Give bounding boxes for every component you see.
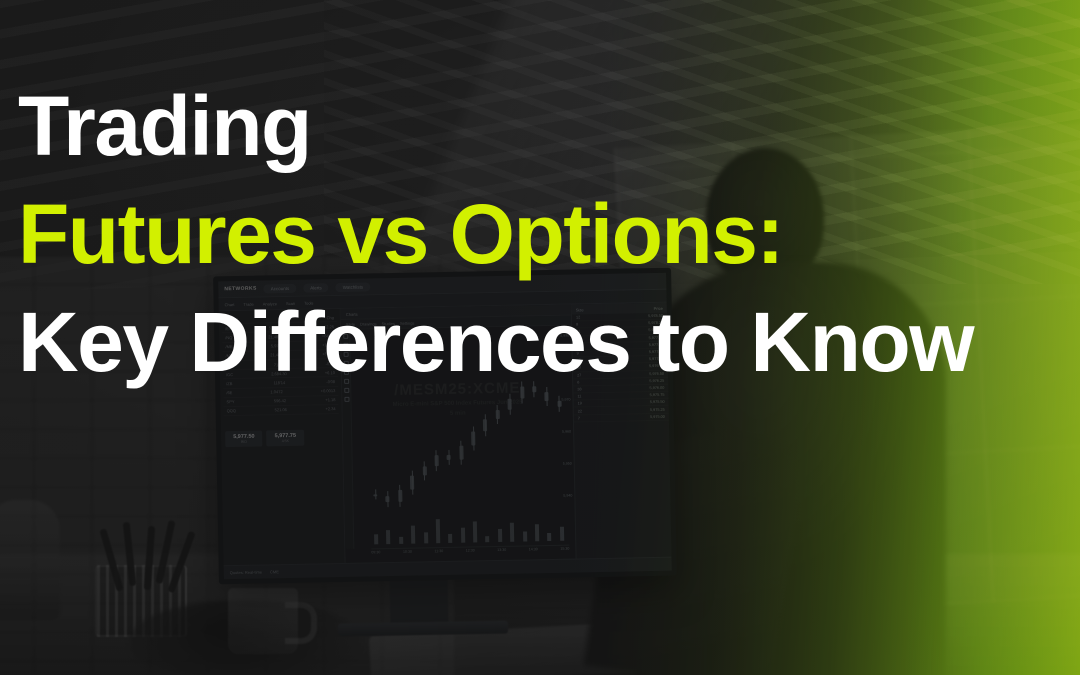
candle-wick	[509, 394, 510, 416]
candle	[557, 400, 561, 406]
x-tick: 15:30	[560, 547, 569, 553]
volume-bar	[374, 535, 378, 545]
cell-size: 22	[578, 409, 582, 413]
banner: NETWORKS Accounts Alerts Watchlists Char…	[0, 0, 1080, 675]
volume-bar	[448, 534, 452, 543]
volume-bar	[547, 533, 551, 541]
candle	[508, 399, 512, 411]
x-tick: 09:30	[371, 550, 380, 556]
candle	[398, 490, 402, 502]
cell-price: 5,975.50	[650, 400, 665, 404]
candle	[434, 455, 438, 467]
monitor-stand	[390, 577, 449, 626]
volume-bar	[411, 526, 415, 544]
table-row[interactable]: 75,975.00	[574, 413, 669, 422]
status-exchange: CME	[270, 569, 279, 574]
candle	[459, 446, 463, 460]
cell-price: 5,975.25	[650, 407, 665, 411]
candle-wick	[375, 489, 376, 499]
cell-size: 7	[578, 416, 580, 420]
volume-bar	[436, 519, 440, 543]
bid-box[interactable]: 5,977.50 BID	[225, 431, 263, 448]
candle-wick	[448, 450, 449, 466]
volume-bar	[473, 522, 477, 543]
candle-wick	[473, 426, 474, 450]
eraser-icon[interactable]	[344, 397, 349, 402]
candle-wick	[460, 441, 461, 465]
candle-wick	[485, 414, 486, 436]
cell-symbol: QQQ	[227, 408, 236, 413]
candle-wick	[399, 485, 400, 507]
candle	[386, 496, 390, 502]
headline-block: Trading Futures vs Options: Key Differen…	[18, 72, 973, 396]
x-tick: 11:30	[434, 549, 443, 555]
volume-bar	[523, 531, 527, 541]
headline-line-1: Trading	[18, 72, 973, 180]
cell-size: 19	[578, 402, 582, 406]
cell-chg: +1.18	[325, 397, 335, 402]
coffee-mug	[228, 588, 298, 654]
ask-box[interactable]: 5,977.75 ASK	[266, 430, 304, 447]
candle	[471, 431, 475, 445]
cell-chg: +2.34	[325, 407, 335, 412]
candle	[373, 494, 377, 496]
ask-label: ASK	[275, 439, 296, 443]
volume-bar	[386, 530, 390, 544]
cell-last: 521.06	[275, 408, 287, 413]
volume-bar	[461, 527, 465, 542]
cell-price: 5,975.00	[650, 414, 665, 418]
bid-label: BID	[233, 440, 254, 444]
candle-wick	[424, 462, 425, 481]
headline-line-3: Key Differences to Know	[18, 288, 973, 396]
cell-symbol: SPY	[226, 399, 234, 404]
candle	[483, 419, 487, 431]
chart-x-axis: 09:30 10:30 11:30 12:30 13:30 14:30 15:3…	[371, 545, 569, 557]
candle-wick	[436, 450, 437, 472]
volume-series	[371, 515, 569, 545]
x-tick: 14:30	[529, 547, 538, 553]
cell-last: 596.42	[274, 398, 286, 403]
candle	[422, 467, 426, 476]
volume-bar	[399, 537, 403, 544]
candle	[495, 410, 499, 419]
candle-wick	[497, 405, 498, 424]
desk-lamp	[0, 500, 60, 620]
volume-bar	[510, 523, 514, 542]
candle-wick	[559, 396, 560, 412]
volume-bar	[498, 529, 502, 542]
candle-wick	[387, 491, 388, 507]
candle	[410, 475, 414, 489]
candle-wick	[411, 470, 412, 494]
x-tick: 12:30	[466, 548, 475, 554]
volume-bar	[485, 536, 489, 542]
candle	[447, 455, 451, 461]
volume-bar	[535, 524, 539, 541]
x-tick: 13:30	[497, 548, 506, 554]
status-quotes: Quotes: Real-time	[230, 570, 262, 576]
table-row[interactable]: QQQ 521.06 +2.34	[224, 405, 339, 416]
volume-bar	[424, 532, 428, 543]
headline-line-2: Futures vs Options:	[18, 180, 973, 288]
x-tick: 10:30	[403, 550, 412, 556]
quote-boxes: 5,977.50 BID 5,977.75 ASK	[225, 430, 304, 448]
volume-bar	[560, 527, 564, 541]
